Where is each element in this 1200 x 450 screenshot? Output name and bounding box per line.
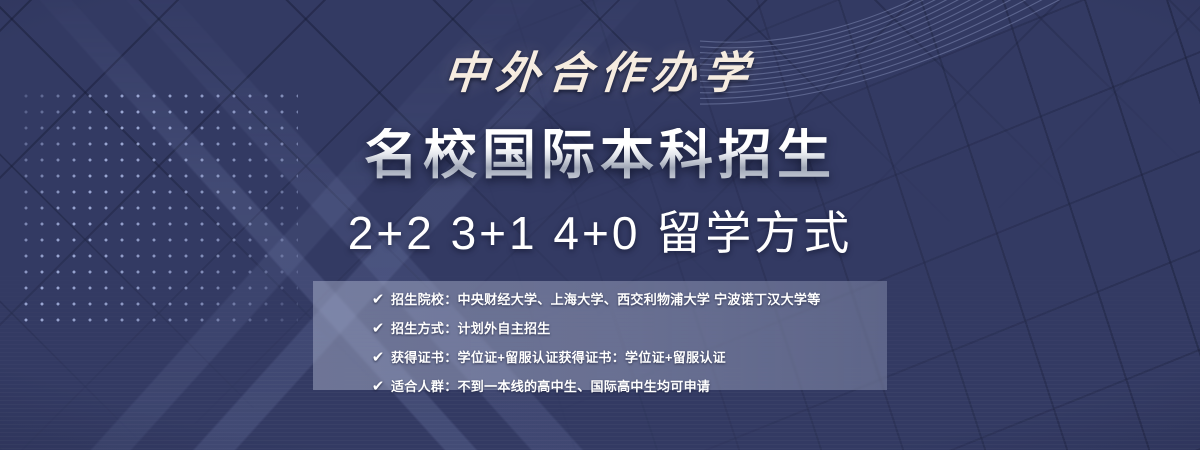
- list-item: ✔ 招生院校：中央财经大学、上海大学、西交利物浦大学 宁波诺丁汉大学等: [313, 287, 887, 312]
- list-item: ✔ 获得证书：学位证+留服认证获得证书：学位证+留服认证: [313, 345, 887, 370]
- feature-text: 适合人群：不到一本线的高中生、国际高中生均可申请: [391, 380, 710, 393]
- banner-tagline: 2+2 3+1 4+0 留学方式: [0, 208, 1200, 260]
- banner-content: 中外合作办学 名校国际本科招生 2+2 3+1 4+0 留学方式 ✔ 招生院校：…: [0, 0, 1200, 450]
- banner-eyebrow: 中外合作办学: [0, 52, 1200, 96]
- promo-banner: 中外合作办学 名校国际本科招生 2+2 3+1 4+0 留学方式 ✔ 招生院校：…: [0, 0, 1200, 450]
- feature-list-panel: ✔ 招生院校：中央财经大学、上海大学、西交利物浦大学 宁波诺丁汉大学等 ✔ 招生…: [313, 281, 887, 390]
- check-icon: ✔: [365, 321, 391, 336]
- list-item: ✔ 适合人群：不到一本线的高中生、国际高中生均可申请: [313, 374, 887, 399]
- check-icon: ✔: [365, 379, 391, 394]
- feature-text: 招生方式：计划外自主招生: [391, 322, 551, 335]
- check-icon: ✔: [365, 350, 391, 365]
- check-icon: ✔: [365, 292, 391, 307]
- banner-headline: 名校国际本科招生: [0, 128, 1200, 182]
- feature-text: 招生院校：中央财经大学、上海大学、西交利物浦大学 宁波诺丁汉大学等: [391, 293, 821, 306]
- feature-text: 获得证书：学位证+留服认证获得证书：学位证+留服认证: [391, 351, 726, 364]
- list-item: ✔ 招生方式：计划外自主招生: [313, 316, 887, 341]
